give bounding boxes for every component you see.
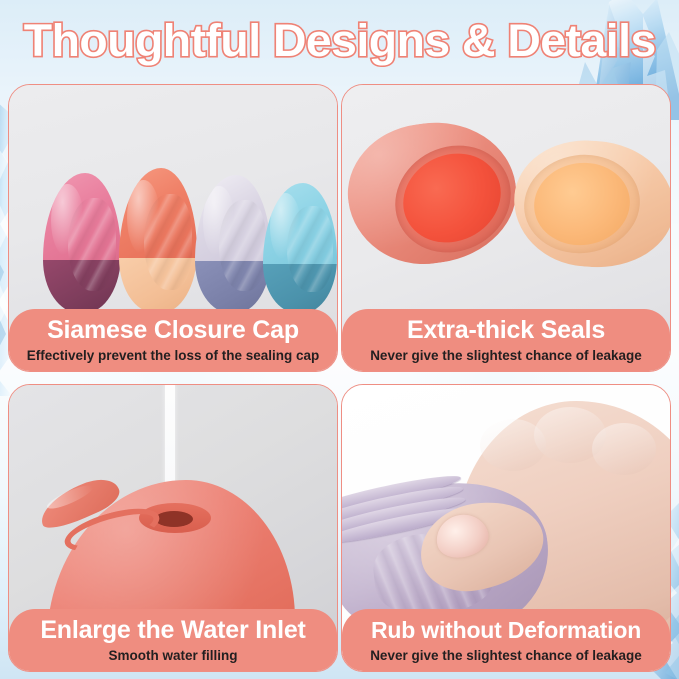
seal-peach xyxy=(514,141,670,267)
page-title-text: Thoughtful Designs & Details xyxy=(24,15,656,67)
panel-2-label: Extra-thick Seals Never give the slighte… xyxy=(342,309,670,372)
panel-3-title: Enlarge the Water Inlet xyxy=(19,615,327,646)
bottle-blue xyxy=(263,183,337,313)
panel-siamese-closure-cap[interactable]: Siamese Closure Cap Effectively prevent … xyxy=(8,84,338,372)
bottle-pink xyxy=(43,173,121,313)
bottle-lavender xyxy=(195,175,271,313)
panel-enlarge-the-water-inlet[interactable]: Enlarge the Water Inlet Smooth water fil… xyxy=(8,384,338,672)
panel-3-subtitle: Smooth water filling xyxy=(19,647,327,664)
knuckle xyxy=(592,423,656,475)
panel-3-label: Enlarge the Water Inlet Smooth water fil… xyxy=(9,609,337,672)
panel-4-title: Rub without Deformation xyxy=(352,615,660,646)
page-title: Thoughtful Designs & Details xyxy=(0,8,679,74)
panel-extra-thick-seals[interactable]: Extra-thick Seals Never give the slighte… xyxy=(341,84,671,372)
bottle-gloss xyxy=(127,180,160,255)
panel-1-subtitle: Effectively prevent the loss of the seal… xyxy=(19,347,327,364)
bottle-gloss xyxy=(203,186,235,258)
seal-coral xyxy=(348,123,516,263)
panel-2-subtitle: Never give the slightest chance of leaka… xyxy=(352,347,660,364)
panel-2-title: Extra-thick Seals xyxy=(352,315,660,346)
panel-4-label: Rub without Deformation Never give the s… xyxy=(342,609,670,672)
feature-panel-grid: Siamese Closure Cap Effectively prevent … xyxy=(8,84,671,672)
bottle-gloss xyxy=(51,184,84,257)
water-inlet-opening xyxy=(155,511,193,527)
panel-4-subtitle: Never give the slightest chance of leaka… xyxy=(352,647,660,664)
infographic-root: Thoughtful Designs & Details xyxy=(0,0,679,679)
bottle-coral xyxy=(119,168,197,313)
panel-1-label: Siamese Closure Cap Effectively prevent … xyxy=(9,309,337,372)
panel-rub-without-deformation[interactable]: Rub without Deformation Never give the s… xyxy=(341,384,671,672)
panel-1-title: Siamese Closure Cap xyxy=(19,315,327,346)
